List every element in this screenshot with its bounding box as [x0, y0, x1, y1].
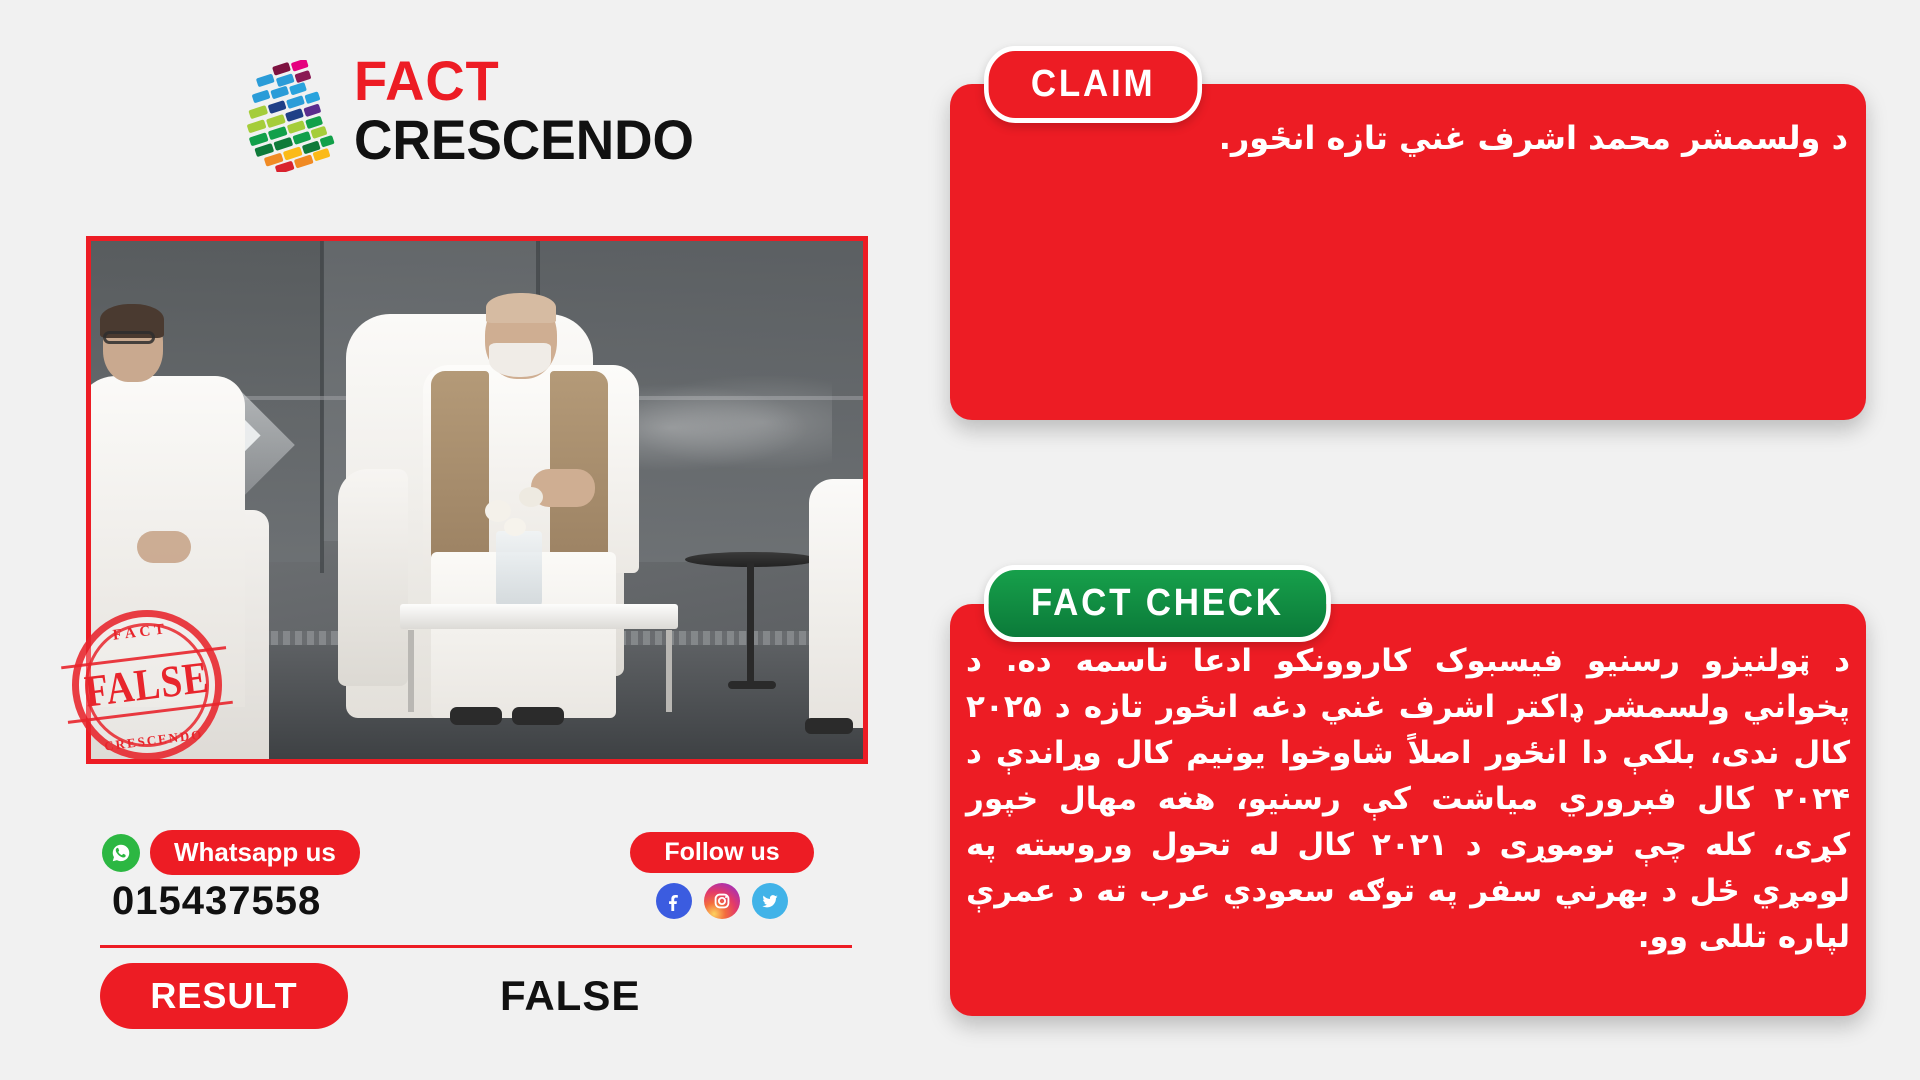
whatsapp-icon[interactable]: [102, 834, 140, 872]
claim-badge: CLAIM: [984, 46, 1202, 123]
brand-logo: FACT CRESCENDO: [236, 52, 706, 180]
twitter-icon[interactable]: [752, 883, 788, 919]
brand-wordmark: FACT CRESCENDO: [354, 52, 706, 170]
result-value: FALSE: [500, 963, 640, 1029]
instagram-icon[interactable]: [704, 883, 740, 919]
fact-check-text: د ټولنیزو رسنیو فیسبوک کاروونکو ادعا ناس…: [966, 638, 1850, 960]
whatsapp-us-button[interactable]: Whatsapp us: [150, 830, 360, 875]
whatsapp-block: Whatsapp us 015437558: [102, 830, 432, 924]
result-row: RESULT FALSE: [100, 963, 860, 1029]
brand-name-crescendo: CRESCENDO: [354, 110, 688, 170]
brand-name-fact: FACT: [354, 52, 695, 110]
whatsapp-number[interactable]: 015437558: [112, 879, 432, 924]
horizontal-divider: [100, 945, 852, 948]
fact-check-badge: FACT CHECK: [984, 565, 1331, 642]
contact-row: Whatsapp us 015437558 Follow us: [86, 830, 868, 926]
right-column: CLAIM د ولسمشر محمد اشرف غني تازه انځور.…: [900, 0, 1920, 1080]
facebook-icon[interactable]: [656, 883, 692, 919]
follow-block: Follow us: [592, 832, 852, 919]
follow-us-button[interactable]: Follow us: [630, 832, 813, 873]
left-column: FACT CRESCENDO: [0, 0, 900, 1080]
claim-text: د ولسمشر محمد اشرف غني تازه انځور.: [970, 114, 1848, 162]
social-links: [592, 883, 852, 919]
fact-check-graphic: FACT CRESCENDO: [0, 0, 1920, 1080]
globe-mosaic-icon: [236, 60, 344, 172]
result-label: RESULT: [100, 963, 348, 1029]
